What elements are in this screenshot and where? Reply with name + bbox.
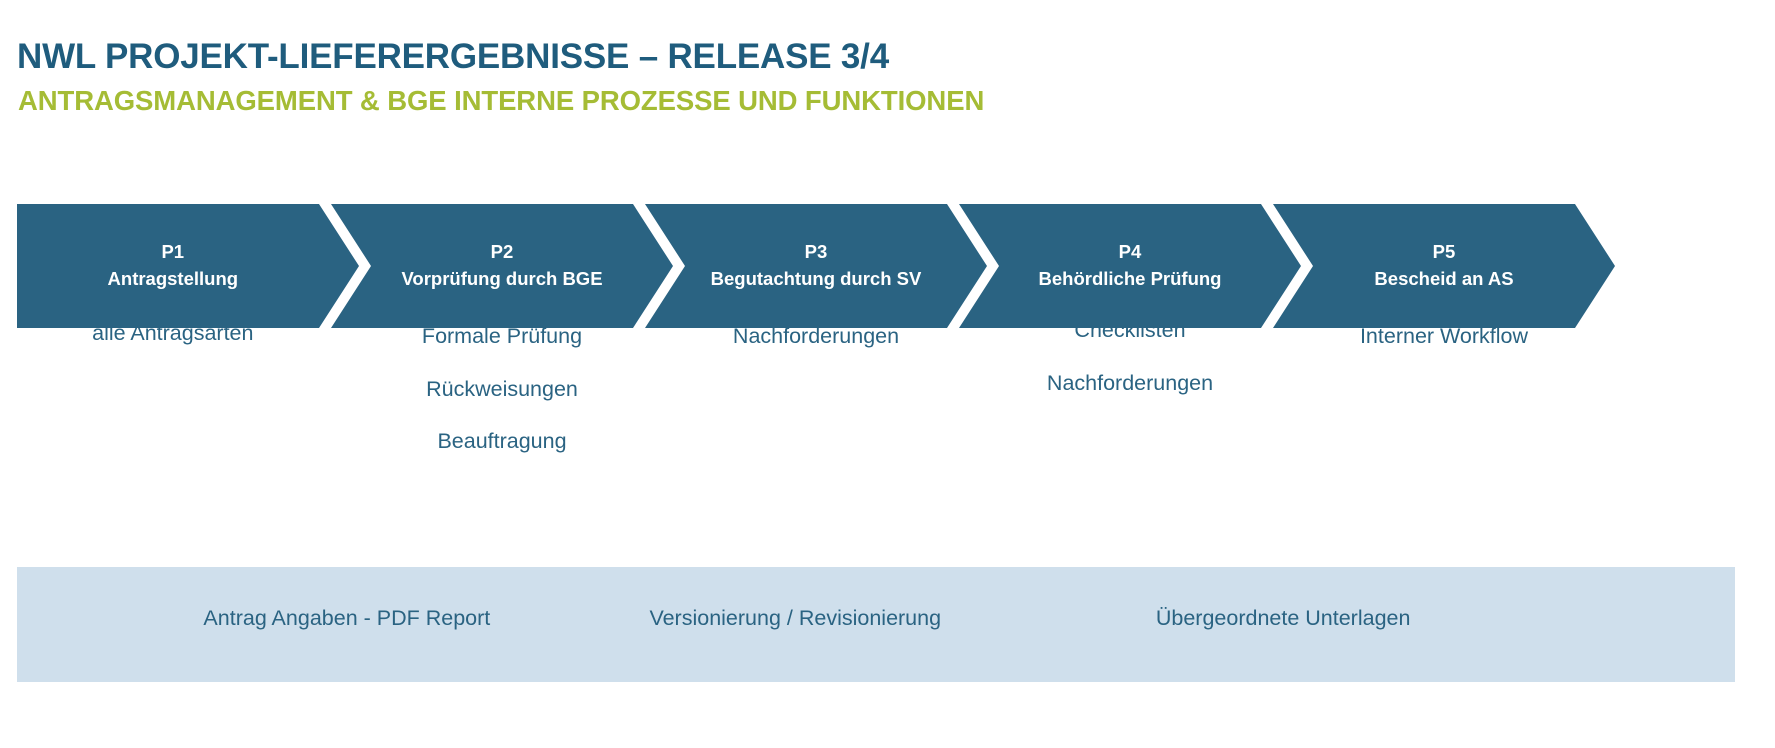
deliverable-item: Formale Prüfung: [422, 326, 582, 348]
deliverable-item: Rückweisungen: [422, 379, 582, 401]
deliverables-column-p5: Interner Workflow: [1360, 326, 1528, 379]
deliverables-column-p2: Formale Prüfung Rückweisungen Beauftragu…: [422, 326, 582, 484]
process-step-p1[interactable]: P1 Antragstellung: [17, 204, 359, 328]
cross-cutting-deliverables-band: Antrag Angaben - PDF Report Versionierun…: [17, 567, 1735, 682]
cross-cutting-item: Antrag Angaben - PDF Report: [203, 608, 490, 630]
page-title: NWL PROJEKT-LIEFERERGEBNISSE – RELEASE 3…: [17, 38, 889, 77]
process-step-p3[interactable]: P3 Begutachtung durch SV: [645, 204, 987, 328]
process-step-p5[interactable]: P5 Bescheid an AS: [1273, 204, 1615, 328]
process-step-p1-code: P1: [108, 239, 239, 266]
deliverables-column-p4: Checklisten Nachforderungen: [1047, 320, 1213, 425]
cross-cutting-item: Übergeordnete Unterlagen: [1156, 608, 1411, 630]
process-step-p5-code: P5: [1374, 239, 1513, 266]
process-step-p4-label: P4 Behördliche Prüfung: [1039, 239, 1222, 293]
process-step-p3-name: Begutachtung durch SV: [711, 266, 922, 293]
process-step-p1-name: Antragstellung: [108, 266, 239, 293]
process-step-p2-label: P2 Vorprüfung durch BGE: [401, 239, 602, 293]
deliverable-item: Checklisten: [1047, 320, 1213, 342]
process-chevron-band: P1 Antragstellung P2 Vorprüfung durch BG…: [17, 204, 1735, 328]
process-step-p2-name: Vorprüfung durch BGE: [401, 266, 602, 293]
process-step-p1-label: P1 Antragstellung: [108, 239, 239, 293]
deliverables-column-p1: alle Antragsarten: [92, 323, 253, 376]
deliverables-column-p3: Nachforderungen: [733, 326, 899, 379]
process-step-p3-code: P3: [711, 239, 922, 266]
process-step-p2[interactable]: P2 Vorprüfung durch BGE: [331, 204, 673, 328]
cross-cutting-item: Versionierung / Revisionierung: [649, 608, 941, 630]
process-step-p3-label: P3 Begutachtung durch SV: [711, 239, 922, 293]
process-step-p4-name: Behördliche Prüfung: [1039, 266, 1222, 293]
process-step-p5-label: P5 Bescheid an AS: [1374, 239, 1513, 293]
deliverable-item: Nachforderungen: [733, 326, 899, 348]
deliverable-item: Beauftragung: [422, 431, 582, 453]
deliverable-item: Interner Workflow: [1360, 326, 1528, 348]
process-step-p5-name: Bescheid an AS: [1374, 266, 1513, 293]
deliverable-item: alle Antragsarten: [92, 323, 253, 345]
process-step-p2-code: P2: [401, 239, 602, 266]
process-step-p4-code: P4: [1039, 239, 1222, 266]
page-subtitle: ANTRAGSMANAGEMENT & BGE INTERNE PROZESSE…: [18, 86, 984, 116]
process-step-p4[interactable]: P4 Behördliche Prüfung: [959, 204, 1301, 328]
deliverable-item: Nachforderungen: [1047, 373, 1213, 395]
slide-canvas: NWL PROJEKT-LIEFERERGEBNISSE – RELEASE 3…: [0, 0, 1775, 748]
